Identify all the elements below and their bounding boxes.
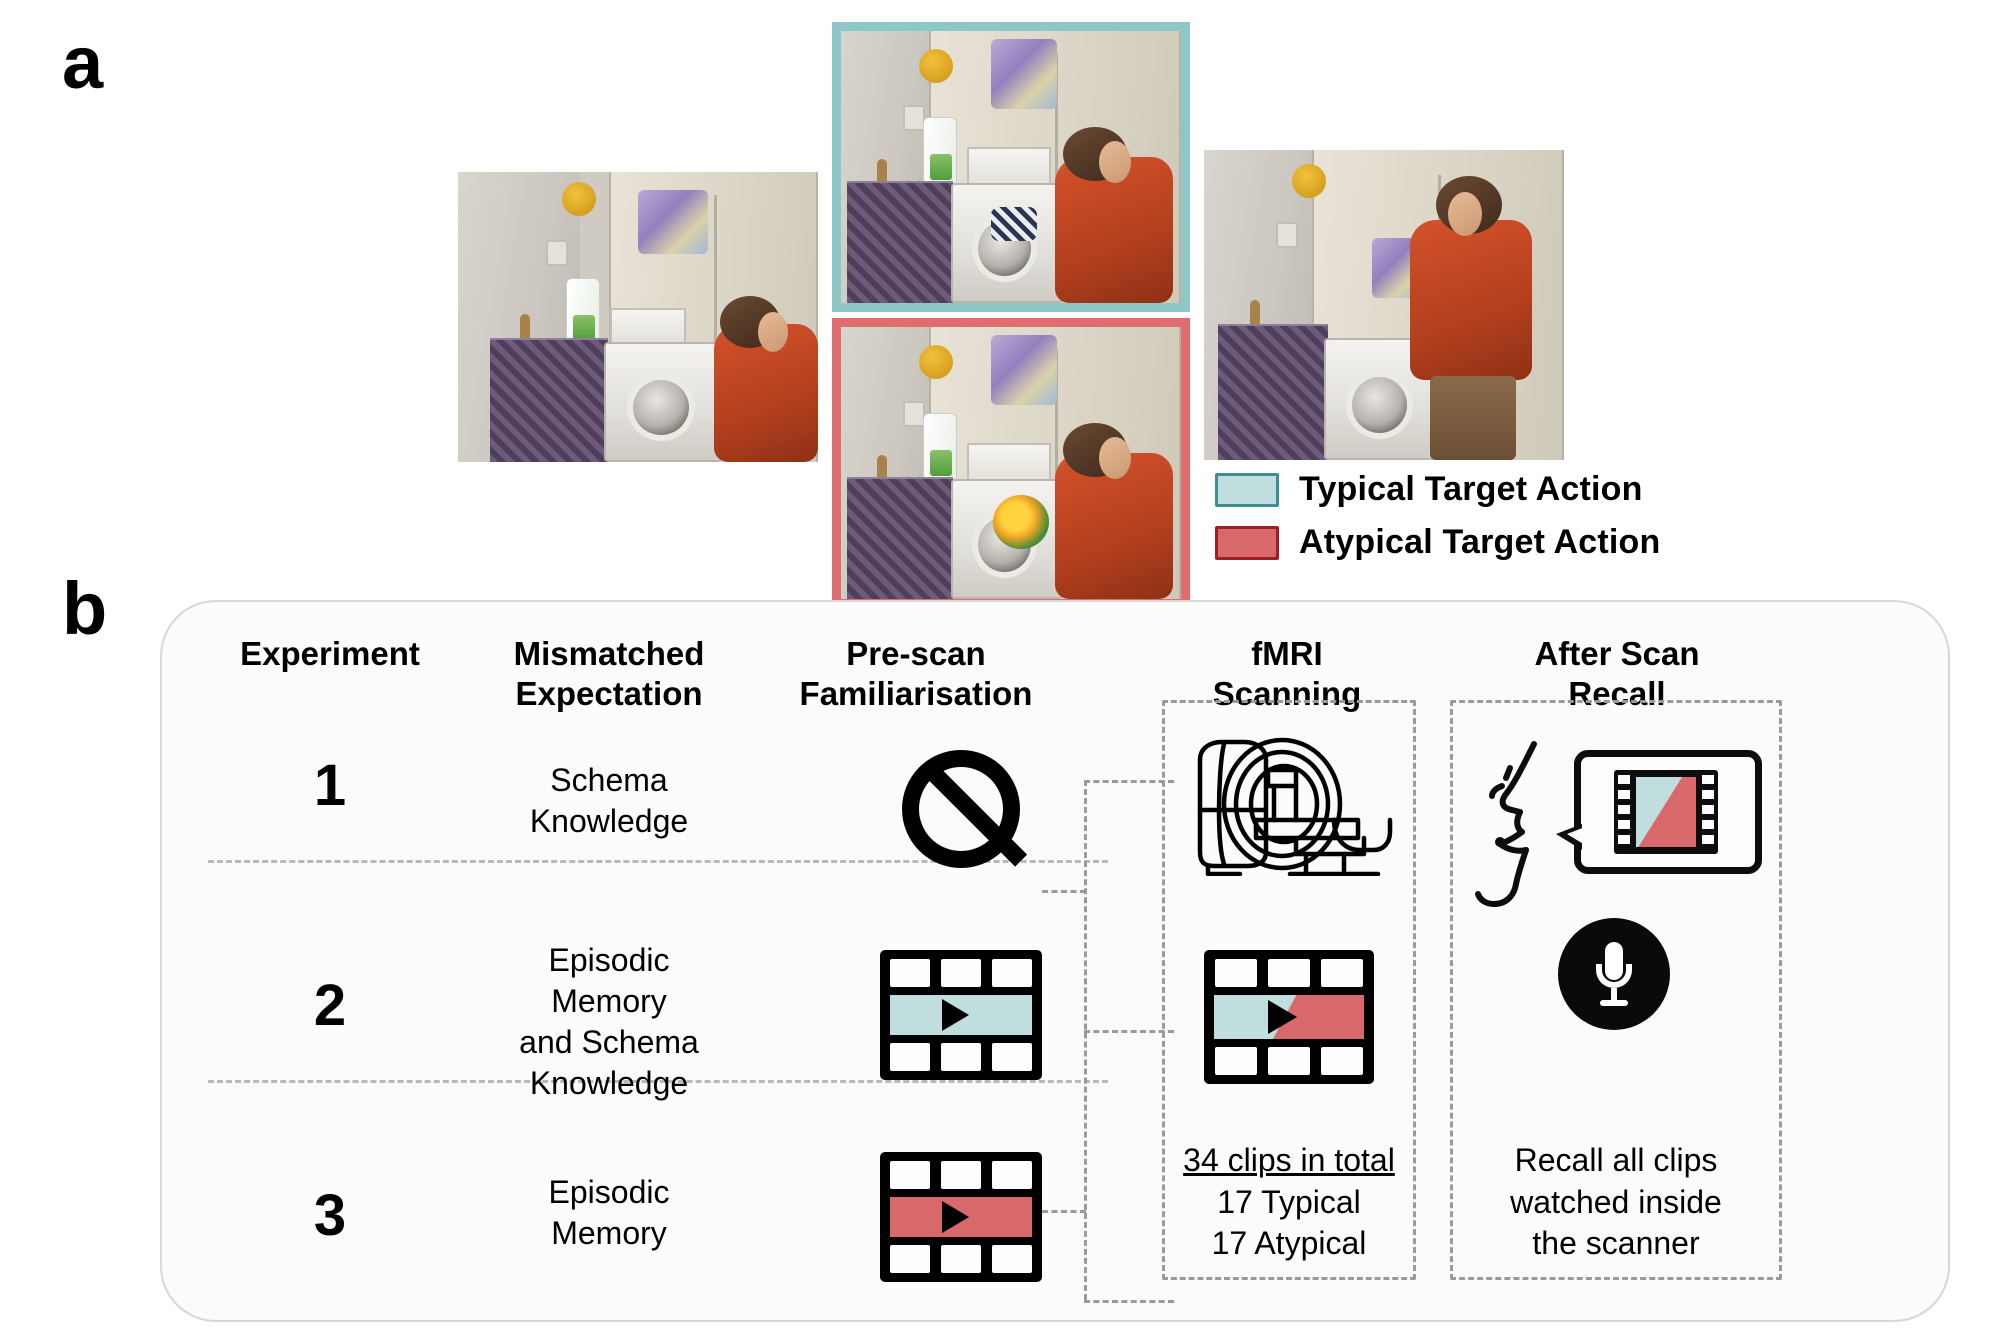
header-experiment: Experiment [200, 634, 460, 674]
experiment-3-expectation: Episodic Memory [474, 1172, 744, 1254]
legend-swatch-atypical [1215, 526, 1279, 560]
filmstrip-mixed-icon [1204, 950, 1374, 1084]
speech-bubble-filmstrip-icon [1574, 750, 1762, 874]
legend-swatch-typical [1215, 473, 1279, 507]
legend-label-atypical: Atypical Target Action [1299, 523, 1660, 562]
fmri-clip-counts: 34 clips in total 17 Typical 17 Atypical [1162, 1140, 1416, 1265]
scene-left [458, 172, 818, 462]
fmri-total-line: 34 clips in total [1162, 1140, 1416, 1182]
scene-atypical [841, 327, 1181, 599]
header-mismatched-expectation: Mismatched Expectation [474, 634, 744, 715]
fmri-atypical-line: 17 Atypical [1162, 1223, 1416, 1265]
play-icon [942, 999, 969, 1031]
mri-scanner-icon [1178, 734, 1400, 876]
microphone-icon [1558, 918, 1670, 1030]
experiment-number-2: 2 [200, 972, 460, 1039]
header-prescan-familiarisation: Pre-scan Familiarisation [766, 634, 1066, 715]
prohibition-icon [902, 750, 1020, 868]
context-frame-right [1204, 150, 1564, 460]
atypical-target-frame [832, 318, 1190, 608]
experiment-1-expectation: Schema Knowledge [474, 760, 744, 842]
panel-a: Typical Target Action Atypical Target Ac… [0, 0, 1999, 600]
legend-row-typical: Typical Target Action [1215, 470, 1660, 509]
legend: Typical Target Action Atypical Target Ac… [1215, 470, 1660, 576]
context-frame-left [458, 172, 818, 462]
experiment-number-1: 1 [200, 752, 460, 819]
filmstrip-atypical-icon [880, 1152, 1042, 1282]
mini-filmstrip-icon [1614, 770, 1718, 854]
play-icon [942, 1201, 969, 1233]
play-icon [1268, 1000, 1297, 1034]
fmri-typical-line: 17 Typical [1162, 1182, 1416, 1224]
scene-right [1204, 150, 1564, 460]
scene-typical [841, 31, 1181, 303]
recall-instruction-text: Recall all clips watched inside the scan… [1450, 1140, 1782, 1265]
filmstrip-typical-icon [880, 950, 1042, 1080]
typical-target-frame [832, 22, 1190, 312]
panel-b: Experiment Mismatched Expectation Pre-sc… [160, 600, 1950, 1322]
legend-row-atypical: Atypical Target Action [1215, 523, 1660, 562]
experiment-2-expectation: Episodic Memory and Schema Knowledge [474, 940, 744, 1104]
legend-label-typical: Typical Target Action [1299, 470, 1643, 509]
figure-root: a b [0, 0, 1999, 1341]
talking-head-icon [1472, 734, 1584, 912]
experiment-number-3: 3 [200, 1182, 460, 1249]
